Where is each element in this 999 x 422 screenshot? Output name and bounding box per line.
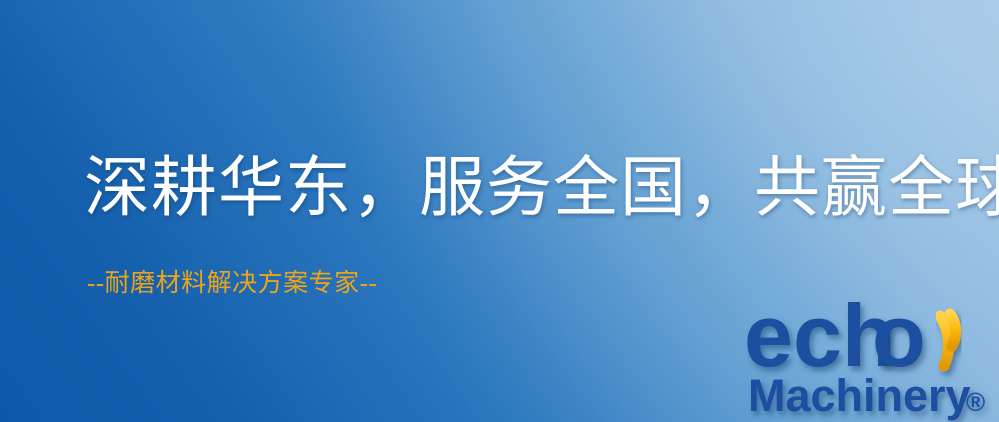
hero-banner: 深耕华东，服务全国，共赢全球 --耐磨材料解决方案专家--	[0, 0, 999, 422]
logo-trademark-symbol: ®	[966, 387, 985, 417]
banner-headline: 深耕华东，服务全国，共赢全球	[84, 154, 999, 223]
company-logo[interactable]: ech o Machinery ®	[744, 294, 999, 422]
echo-waves-icon	[940, 314, 956, 366]
logo-tagline: Machinery	[748, 370, 971, 421]
banner-subtitle: --耐磨材料解决方案专家--	[87, 269, 377, 299]
